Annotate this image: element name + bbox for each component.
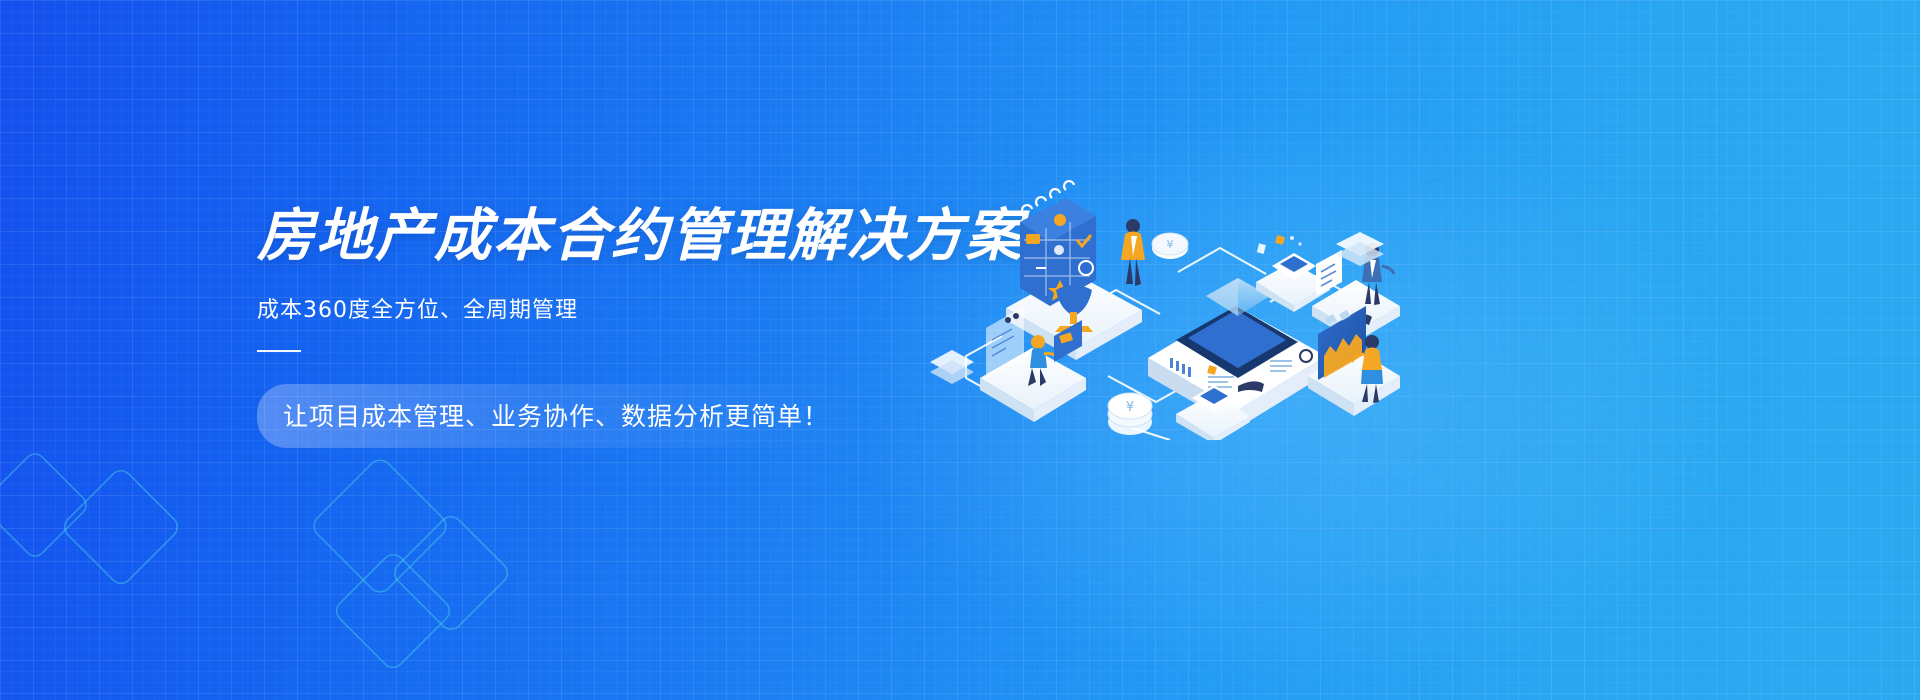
hero-banner: 房地产成本合约管理解决方案 成本360度全方位、全周期管理 让项目成本管理、业务…: [0, 0, 1920, 700]
page-subtitle: 成本360度全方位、全周期管理: [257, 292, 1017, 324]
yen-coin-stack: ¥: [1108, 393, 1152, 435]
cta-button[interactable]: 让项目成本管理、业务协作、数据分析更简单！: [257, 384, 863, 448]
svg-text:¥: ¥: [1167, 238, 1174, 251]
standing-man-orange-jacket: [1121, 219, 1145, 286]
page-title: 房地产成本合约管理解决方案: [257, 206, 1017, 268]
isometric-illustration: ¥: [920, 140, 1400, 440]
svg-text:¥: ¥: [1126, 400, 1134, 415]
title-divider: [257, 350, 301, 352]
yen-coin-upper: ¥: [1152, 233, 1188, 259]
hero-copy: 房地产成本合约管理解决方案 成本360度全方位、全周期管理 让项目成本管理、业务…: [257, 206, 1017, 448]
